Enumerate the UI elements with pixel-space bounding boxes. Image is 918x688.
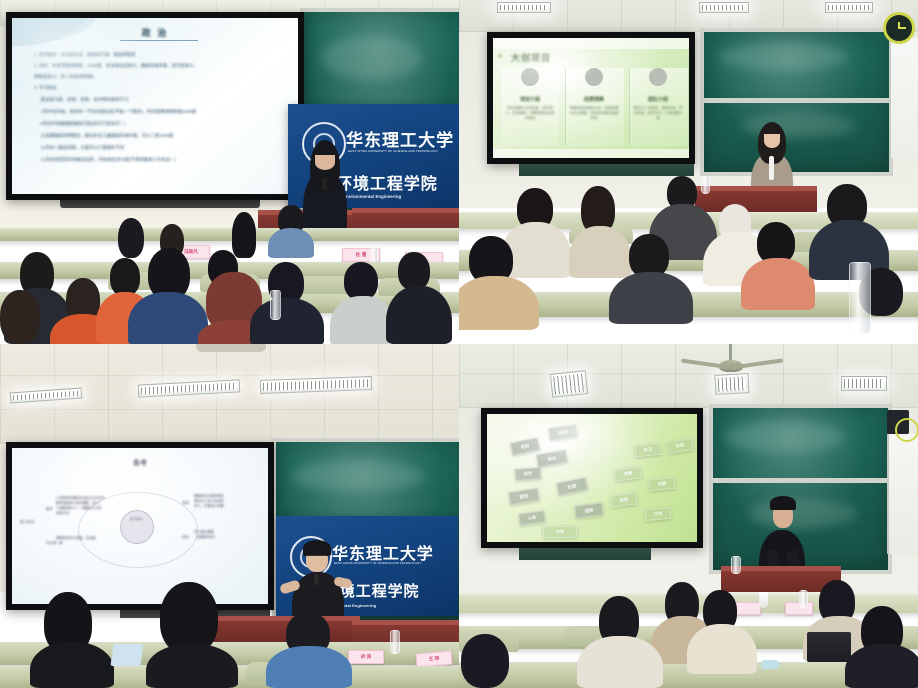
panel-bottom-right[interactable]: 考研 保研 就业 留学 实习 科研 竞赛 志愿 社团 规划 选择 经验 方向 心… [459,344,918,688]
presenter [288,538,348,624]
word-card: 规划 [508,488,540,506]
ceiling-lamp [497,2,551,13]
slide-surface: 备考 复习时间 复习时间 数学 1.先把参考课程定好知识点内容的 数学规划进行深… [12,448,268,604]
projector-screen[interactable]: 政 治 1. 老师推荐：徐涛强化班、腿姐技巧课、腿姐押题班 2. 资料：肖秀荣精… [6,12,304,200]
lecture-room-4: 考研 保研 就业 留学 实习 科研 竞赛 志愿 社团 规划 选择 经验 方向 心… [459,344,918,688]
word-card: 就业 [536,449,568,467]
lecture-room-3: 备考 复习时间 复习时间 数学 1.先把参考课程定好知识点内容的 数学规划进行深… [0,344,459,688]
whiteboard [887,434,918,554]
slide-line: 3. 学习经验 [34,85,56,91]
word-card: 实习 [634,443,661,458]
slide-surface: 政 治 1. 老师推荐：徐涛强化班、腿姐技巧课、腿姐押题班 2. 资料：肖秀荣精… [12,18,298,194]
drink-cup [759,592,768,608]
panel-bottom-left[interactable]: 备考 复习时间 复习时间 数学 1.先把参考课程定好知识点内容的 数学规划进行深… [0,344,459,688]
word-card: 竞赛 [614,466,641,481]
ceiling-lamp [550,370,588,398]
sanitizer-bottle [731,556,741,574]
column-heading: 项目介绍 [501,96,559,103]
screen-housing [519,548,651,560]
word-card: 志愿 [648,477,675,492]
branch-label: 英语 [182,500,189,505]
water-bottle [849,262,871,334]
slide-line: · 建议按马原、史纲、思修、毛中特的顺序学习 [38,97,129,103]
slide-exam-prep: 备考 复习时间 复习时间 数学 1.先把参考课程定好知识点内容的 数学规划进行深… [12,448,268,604]
ceiling-lamp [699,2,749,13]
slide-topbar [493,38,689,49]
slide-line: 1. 老师推荐：徐涛强化班、腿姐技巧课、腿姐押题班 [34,52,135,58]
slide-line: · 之后跟腿姐背押题班，期间多念几遍腿姐背诵手册，可以二刷1000题 [38,133,173,139]
word-card: 方向 [645,507,672,521]
slide-politics: 政 治 1. 老师推荐：徐涛强化班、腿姐技巧课、腿姐押题班 2. 资料：肖秀荣精… [12,18,298,194]
projector-screen[interactable]: » 大创项目 项目介绍 经费预算 团队介绍 项目选题与立项背景、研究意义、技术路… [487,32,695,164]
face-mask [761,660,779,669]
podium [210,616,360,642]
word-card: 科研 [666,438,694,454]
slide-line: · 9月份开始跟腿姐做技巧班(技巧只是技巧！) [38,121,125,127]
slide-innovation-project: » 大创项目 项目介绍 经费预算 团队介绍 项目选题与立项背景、研究意义、技术路… [493,38,689,158]
column-heading: 团队介绍 [629,96,687,103]
slide-surface: » 大创项目 项目介绍 经费预算 团队介绍 项目选题与立项背景、研究意义、技术路… [493,38,689,158]
column-body: 团队分工与职责、指导老师、学术背景、成员专长、已有成果介绍 [632,106,684,121]
water-bottle [270,290,281,320]
water-bottle [390,630,400,654]
presenter [300,138,350,228]
banner-en-top: EAST CHINA UNIVERSITY OF SCIENCE AND TEC… [348,149,438,153]
name-card: 孙 泽 [348,650,384,664]
wall-clock [883,12,915,44]
word-card: 经验 [610,492,637,508]
word-card: 未来 [543,526,577,539]
whiteboard [889,38,918,158]
slide-line: · 7月中旬开始，每天听一节徐涛强化班(不能一个模块)，听完看精讲精练做1000… [38,109,196,115]
slide-line: 押题班讲义；肖八肖四(预测卷) [34,74,94,80]
branch-body: 学习强化课程 （真题的总作） [194,530,256,540]
lecture-room-2: » 大创项目 项目介绍 经费预算 团队介绍 项目选题与立项背景、研究意义、技术路… [459,0,918,344]
word-card: 留学 [515,467,542,481]
word-card: 保研 [548,424,578,441]
book [110,644,143,666]
column-body: 明确经费的使用方向、资源配置与支出明细、阶段性成果及进度安排 [568,106,620,121]
word-card: 选择 [574,502,603,518]
chevron-icon: » [498,51,502,60]
screen-housing [519,164,694,176]
slide-title: 大创项目 [511,51,551,64]
branch-label: 专业课 [46,540,56,545]
lecture-room-1: 政 治 1. 老师推荐：徐涛强化班、腿姐技巧课、腿姐押题班 2. 资料：肖秀荣精… [0,0,459,344]
slide-line: · 11月肖八做选择题，大题可以只看解析不背 [38,145,124,151]
chalkboard [700,28,893,176]
column-heading: 经费预算 [565,96,623,103]
photo-collage: 政 治 1. 老师推荐：徐涛强化班、腿姐技巧课、腿姐押题班 2. 资料：肖秀荣精… [0,0,918,688]
projector-screen[interactable]: 考研 保研 就业 留学 实习 科研 竞赛 志愿 社团 规划 选择 经验 方向 心… [481,408,703,548]
wall-clock [895,418,918,442]
ceiling-lamp [841,376,887,391]
word-card: 心态 [518,510,545,526]
slide-word-cards: 考研 保研 就业 留学 实习 科研 竞赛 志愿 社团 规划 选择 经验 方向 心… [487,414,697,542]
panel-top-right[interactable]: » 大创项目 项目介绍 经费预算 团队介绍 项目选题与立项背景、研究意义、技术路… [459,0,918,344]
banner-zh-top: 华东理工大学 [346,126,454,151]
slide-title: 备考 [12,458,268,468]
laptop [807,632,851,662]
presenter [749,118,795,194]
ceiling-vent [196,344,266,352]
branch-label: 政治 [182,534,189,539]
slide-line: 2. 资料：肖秀荣精讲精练、1000题、徐涛强化班讲义、腿姐背诵手册、技巧班讲义… [34,63,198,69]
name-card [733,602,761,615]
slide-surface: 考研 保研 就业 留学 实习 科研 竞赛 志愿 社团 规划 选择 经验 方向 心… [487,414,697,542]
column-body: 项目选题与立项背景、研究意义、技术路线、预期成果及创新点概述 [504,106,556,121]
podium [695,186,817,212]
word-card: 考研 [510,437,540,456]
sanitizer-bottle [701,176,710,194]
screen-housing [60,200,260,208]
branch-label: 数学 [46,506,53,511]
branch-body: 1.先把参考课程定好知识点内容的 数学规划进行深化理解（讲义） 2.真题和练习—… [56,496,126,516]
projector-screen[interactable]: 备考 复习时间 复习时间 数学 1.先把参考课程定好知识点内容的 数学规划进行深… [6,442,274,610]
branch-root-label: 复习时间 [20,520,34,525]
panel-top-left[interactable]: 政 治 1. 老师推荐：徐涛强化班、腿姐技巧课、腿姐押题班 2. 资料：肖秀荣精… [0,0,459,344]
ceiling-lamp [825,2,873,13]
word-card: 社团 [556,477,588,495]
desk-row [0,228,459,241]
hub-label: 复习时间 [124,518,148,522]
banner-zh-bottom: 环境工程学院 [336,170,438,194]
branch-body: 根据考试大纲的指定 单词书上自行对应的 学习，扩展词汇积累 [194,494,260,509]
water-bottle [799,590,808,608]
ceiling-lamp [714,373,749,395]
branch-body: 课程的历年大真题、互及做 一刷 [56,536,122,546]
slide-line: · 12月肖四回到早快做完选择，开始疯狂背大题(不要想着两三天突击！) [38,157,176,163]
slide-title: 政 治 [12,26,298,39]
